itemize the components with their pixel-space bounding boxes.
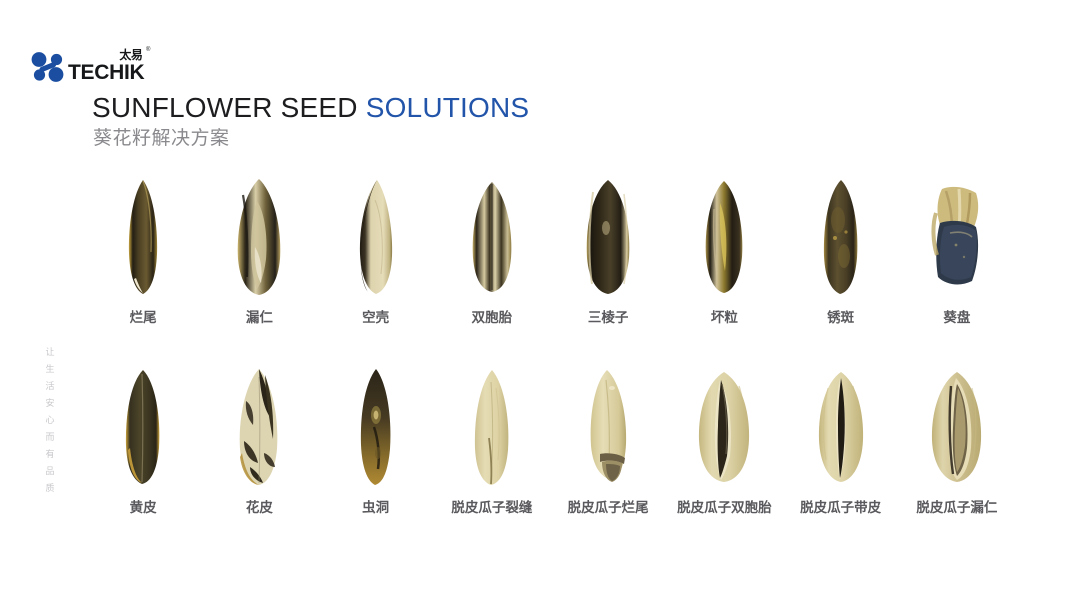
seed-sample-cell: 脱皮瓜子裂缝 [434, 366, 550, 516]
seed-sample-row-2: 黄皮 花皮 [85, 366, 1015, 516]
side-slogan: 让 生 活 安 心 而 有 品 质 [42, 348, 58, 493]
seed-label: 漏仁 [246, 310, 273, 326]
seed-label: 脱皮瓜子漏仁 [916, 500, 997, 516]
seed-sample-row-1: 烂尾 漏仁 [85, 176, 1015, 326]
kernel-image-with-skin [814, 366, 868, 488]
seed-image-twin [465, 176, 519, 298]
seed-label: 黄皮 [130, 500, 157, 516]
seed-label: 脱皮瓜子裂缝 [451, 500, 532, 516]
seed-image-sunflower-disc [926, 176, 988, 298]
trademark-symbol: ® [146, 47, 150, 53]
seed-label: 脱皮瓜子烂尾 [568, 500, 649, 516]
brand-name-cn: 太易 [119, 49, 142, 61]
kernel-image-rotten-tail [582, 366, 634, 488]
seed-label: 烂尾 [130, 310, 157, 326]
seed-image-worm-hole [356, 366, 396, 488]
seed-label: 虫洞 [362, 500, 389, 516]
seed-label: 坏粒 [711, 310, 738, 326]
seed-sample-cell: 空壳 [318, 176, 434, 326]
side-slogan-char: 生 [45, 365, 54, 374]
seed-sample-cell: 锈斑 [783, 176, 899, 326]
seed-sample-cell: 坏粒 [666, 176, 782, 326]
side-slogan-char: 活 [45, 382, 54, 391]
seed-sample-cell: 脱皮瓜子双胞胎 [666, 366, 782, 516]
seed-image-yellow-skin [121, 366, 165, 488]
seed-sample-cell: 脱皮瓜子烂尾 [550, 366, 666, 516]
seed-sample-cell: 脱皮瓜子漏仁 [899, 366, 1015, 516]
seed-label: 花皮 [246, 500, 273, 516]
seed-sample-cell: 脱皮瓜子带皮 [783, 366, 899, 516]
seed-label: 双胞胎 [472, 310, 513, 326]
seed-sample-cell: 三棱子 [550, 176, 666, 326]
slide-canvas: 太易 ® TECHIK SUNFLOWER SEED SOLUTIONS 葵花籽… [0, 0, 1080, 608]
seed-label: 锈斑 [827, 310, 854, 326]
side-slogan-char: 而 [45, 433, 54, 442]
seed-image-mottled-skin [234, 366, 284, 488]
techik-logo-mark-icon [30, 50, 66, 84]
side-slogan-char: 让 [45, 348, 54, 357]
seed-label: 葵盘 [943, 310, 970, 326]
page-title: SUNFLOWER SEED SOLUTIONS [92, 92, 529, 124]
seed-sample-cell: 烂尾 [85, 176, 201, 326]
seed-sample-cell: 双胞胎 [434, 176, 550, 326]
side-slogan-char: 安 [45, 399, 54, 408]
side-slogan-char: 质 [45, 484, 54, 493]
page-subtitle: 葵花籽解决方案 [93, 128, 230, 151]
seed-label: 空壳 [362, 310, 389, 326]
seed-image-exposed-kernel [230, 176, 288, 298]
page-title-main: SUNFLOWER SEED [92, 92, 366, 123]
kernel-image-exposed [927, 366, 987, 488]
seed-label: 三棱子 [588, 310, 629, 326]
seed-image-bad-grain [699, 176, 749, 298]
seed-sample-cell: 漏仁 [201, 176, 317, 326]
seed-label: 脱皮瓜子带皮 [800, 500, 881, 516]
seed-image-rust-spot [818, 176, 864, 298]
kernel-image-twin [693, 366, 755, 488]
brand-name-en: TECHIK [68, 62, 144, 83]
seed-sample-cell: 花皮 [201, 366, 317, 516]
brand-wordmark: 太易 ® TECHIK [68, 50, 144, 84]
side-slogan-char: 有 [45, 450, 54, 459]
seed-image-empty-shell [354, 176, 398, 298]
seed-image-rotten-tail [123, 176, 163, 298]
seed-sample-cell: 黄皮 [85, 366, 201, 516]
page-title-accent: SOLUTIONS [366, 92, 530, 123]
seed-label: 脱皮瓜子双胞胎 [677, 500, 772, 516]
seed-image-triangular [579, 176, 637, 298]
seed-sample-cell: 虫洞 [318, 366, 434, 516]
brand-logo: 太易 ® TECHIK [30, 44, 144, 84]
side-slogan-char: 品 [45, 467, 54, 476]
side-slogan-char: 心 [45, 416, 54, 425]
seed-sample-cell: 葵盘 [899, 176, 1015, 326]
kernel-image-crack [470, 366, 514, 488]
